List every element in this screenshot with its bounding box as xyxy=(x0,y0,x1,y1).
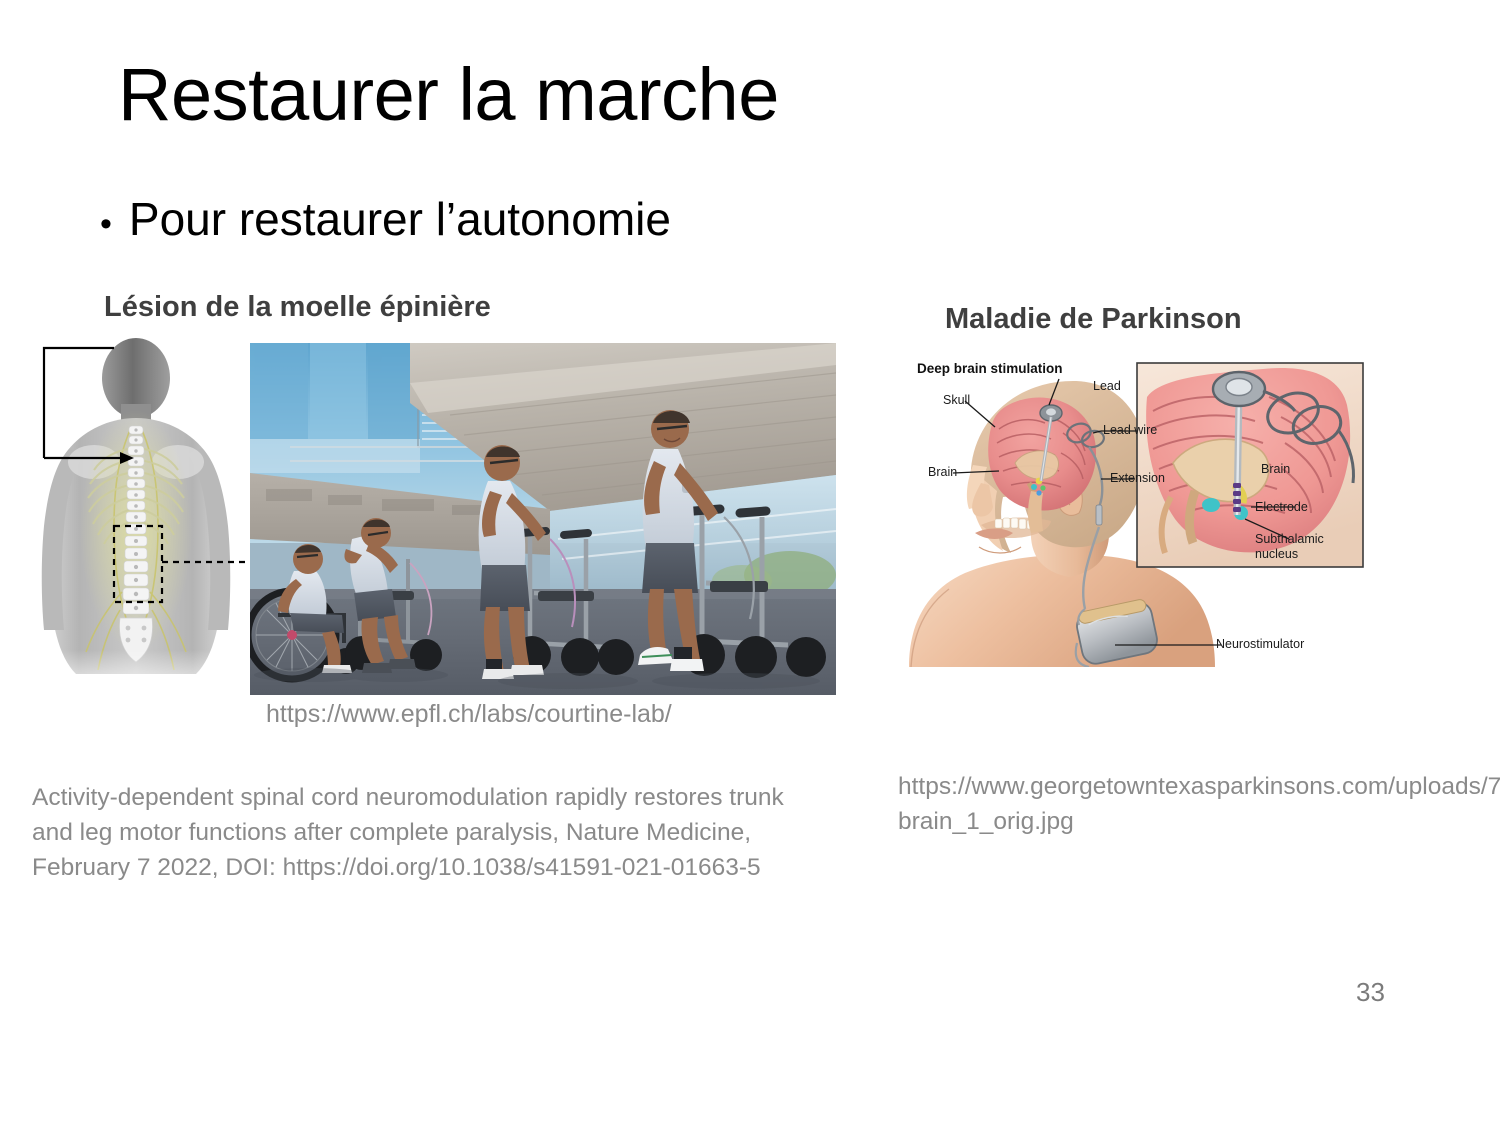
dbs-label-skull: Skull xyxy=(943,393,970,407)
section-heading-parkinsons-disease: Maladie de Parkinson xyxy=(945,303,1242,336)
dbs-label-brain: Brain xyxy=(928,465,957,479)
dbs-label-lead-wire: Lead wire xyxy=(1103,423,1157,437)
page-title: Restaurer la marche xyxy=(118,56,779,134)
dbs-inset-label-electrode: Electrode xyxy=(1255,500,1308,514)
bullet-marker-icon: • xyxy=(100,207,112,241)
clipped-heading-remnant: Lesion de la moelle épinière xyxy=(48,330,218,341)
photo-source-caption: https://www.epfl.ch/labs/courtine-lab/ xyxy=(266,698,672,731)
dbs-label-lead: Lead xyxy=(1093,379,1121,393)
slide-number: 33 xyxy=(1356,977,1385,1008)
deep-brain-stimulation-diagram: Deep brain stimulation Skull Brain Lead … xyxy=(903,357,1373,667)
right-citation-text: https://www.georgetowntexasparkinsons.co… xyxy=(898,770,1368,840)
section-heading-spinal-cord-lesion: Lésion de la moelle épinière xyxy=(104,291,491,324)
dbs-inset-label-brain: Brain xyxy=(1261,462,1290,476)
rehabilitation-walking-sequence-photo xyxy=(250,343,836,695)
walking-sequence-svg xyxy=(250,343,836,695)
bullet-text: Pour restaurer l’autonomie xyxy=(129,192,671,246)
presentation-slide: Restaurer la marche • Pour restaurer l’a… xyxy=(0,0,1500,1125)
dbs-inset-label-subthalamic-nucleus: Subthalamic nucleus xyxy=(1255,532,1341,562)
bullet-list-item: • Pour restaurer l’autonomie xyxy=(100,192,671,246)
dbs-figure-title: Deep brain stimulation xyxy=(917,361,1063,376)
left-citation-text: Activity-dependent spinal cord neuromodu… xyxy=(32,781,792,885)
dbs-label-neurostimulator: Neurostimulator xyxy=(1216,637,1304,651)
dbs-label-extension: Extension xyxy=(1110,471,1165,485)
spine-anatomy-svg xyxy=(22,330,250,700)
spinal-cord-anatomy-diagram: Lesion de la moelle épinière xyxy=(22,330,250,700)
